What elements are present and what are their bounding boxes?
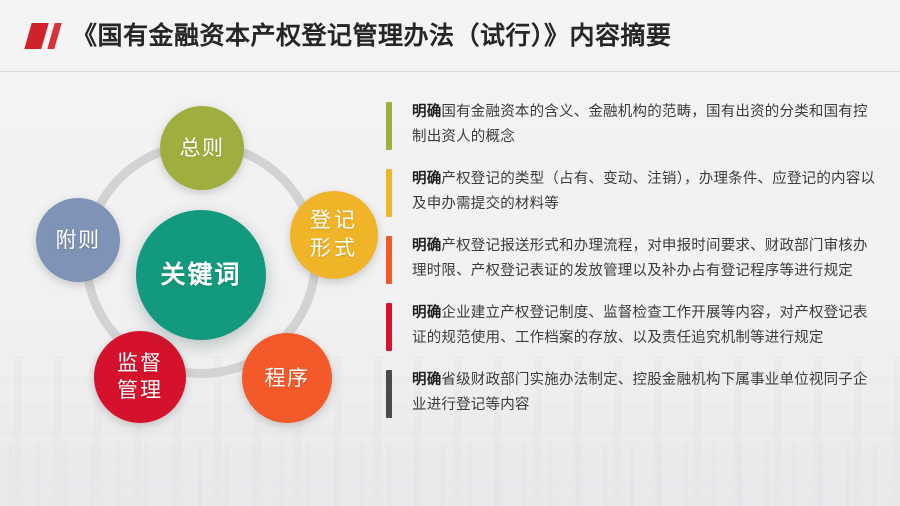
bullet-text-2: 明确产权登记的类型（占有、变动、注销），办理条件、应登记的内容以及申办需提交的材… (412, 167, 878, 217)
node-supplementary-provisions-label: 附则 (56, 228, 101, 253)
page-title: 《国有金融资本产权登记管理办法（试行）》内容摘要 (72, 16, 672, 56)
list-item: 明确产权登记报送形式和办理流程，对申报时间要求、财政部门审核办理时限、产权登记表… (386, 234, 886, 284)
node-general-provisions[interactable]: 总则 (160, 106, 244, 190)
bullet-lead-2: 明确 (412, 171, 441, 187)
bullet-text-4: 明确企业建立产权登记制度、监督检查工作开展等内容，对产权登记表证的规范使用、工作… (412, 301, 878, 351)
bullet-lead-4: 明确 (412, 305, 441, 321)
bullet-lead-1: 明确 (412, 104, 441, 120)
list-item: 明确国有金融资本的含义、金融机构的范畴，国有出资的分类和国有控制出资人的概念 (386, 100, 886, 150)
bullet-marker-3 (386, 236, 392, 284)
bullet-body-2: 产权登记的类型（占有、变动、注销），办理条件、应登记的内容以及申办需提交的材料等 (412, 171, 875, 212)
node-registration-form[interactable]: 登记形式 (290, 191, 378, 279)
slide-canvas: 《国有金融资本产权登记管理办法（试行）》内容摘要 总则 登记形式 程序 监督管理… (0, 0, 900, 506)
bullet-body-3: 产权登记报送形式和办理流程，对申报时间要求、财政部门审核办理时限、产权登记表证的… (412, 238, 868, 279)
bullet-marker-4 (386, 303, 392, 351)
background-texture-footer (0, 444, 900, 506)
red-slash-mark-icon (24, 23, 70, 49)
node-procedure-label: 程序 (265, 366, 310, 391)
bullet-marker-5 (386, 370, 392, 418)
bullet-text-1: 明确国有金融资本的含义、金融机构的范畴，国有出资的分类和国有控制出资人的概念 (412, 100, 878, 150)
slide-header: 《国有金融资本产权登记管理办法（试行）》内容摘要 (0, 0, 900, 72)
center-node-keyword-label: 关键词 (160, 263, 241, 288)
bullet-body-4: 企业建立产权登记制度、监督检查工作开展等内容，对产权登记表证的规范使用、工作档案… (412, 305, 868, 346)
node-registration-form-label: 登记形式 (310, 207, 358, 263)
list-item: 明确产权登记的类型（占有、变动、注销），办理条件、应登记的内容以及申办需提交的材… (386, 167, 886, 217)
bullet-text-3: 明确产权登记报送形式和办理流程，对申报时间要求、财政部门审核办理时限、产权登记表… (412, 234, 878, 284)
header-divider (0, 71, 900, 72)
center-node-keyword[interactable]: 关键词 (136, 210, 266, 340)
node-general-provisions-label: 总则 (180, 136, 225, 161)
bullet-body-5: 省级财政部门实施办法制定、控股金融机构下属事业单位视同子企业进行登记等内容 (412, 372, 868, 413)
list-item: 明确省级财政部门实施办法制定、控股金融机构下属事业单位视同子企业进行登记等内容 (386, 368, 886, 418)
bullet-marker-1 (386, 102, 392, 150)
bullet-text-5: 明确省级财政部门实施办法制定、控股金融机构下属事业单位视同子企业进行登记等内容 (412, 368, 878, 418)
node-supervision-management[interactable]: 监督管理 (94, 331, 186, 423)
bullet-lead-5: 明确 (412, 372, 441, 388)
list-item: 明确企业建立产权登记制度、监督检查工作开展等内容，对产权登记表证的规范使用、工作… (386, 301, 886, 351)
bullet-lead-3: 明确 (412, 238, 441, 254)
node-supervision-management-label: 监督管理 (117, 350, 163, 404)
keyword-circle-diagram: 总则 登记形式 程序 监督管理 附则 关键词 (22, 88, 382, 438)
summary-bullet-list: 明确国有金融资本的含义、金融机构的范畴，国有出资的分类和国有控制出资人的概念 明… (386, 100, 886, 435)
node-procedure[interactable]: 程序 (242, 333, 332, 423)
bullet-marker-2 (386, 169, 392, 217)
bullet-body-1: 国有金融资本的含义、金融机构的范畴，国有出资的分类和国有控制出资人的概念 (412, 104, 868, 145)
node-supplementary-provisions[interactable]: 附则 (36, 198, 120, 282)
